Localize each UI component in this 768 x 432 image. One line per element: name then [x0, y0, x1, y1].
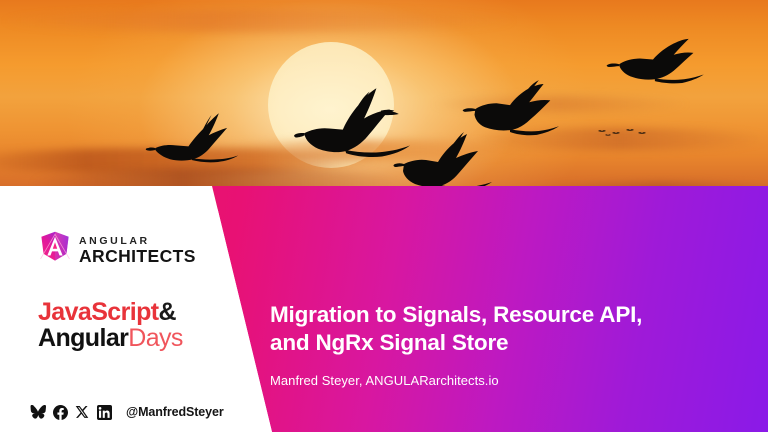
social-handle: @ManfredSteyer — [126, 405, 224, 419]
presentation-slide: ANGULAR ARCHITECTS JavaScript& AngularDa… — [0, 0, 768, 432]
title-block: Migration to Signals, Resource API, and … — [270, 301, 730, 388]
lower-band: ANGULAR ARCHITECTS JavaScript& AngularDa… — [0, 186, 768, 432]
aa-line-top: ANGULAR — [79, 236, 196, 247]
angular-architects-wordmark: ANGULAR ARCHITECTS — [79, 234, 196, 266]
social-links-row: @ManfredSteyer — [30, 404, 224, 420]
linkedin-icon[interactable] — [96, 404, 112, 420]
word-angular: Angular — [38, 324, 128, 352]
x-icon[interactable] — [74, 404, 90, 420]
slide-title: Migration to Signals, Resource API, and … — [270, 301, 730, 358]
facebook-icon[interactable] — [52, 404, 68, 420]
word-days: Days — [128, 324, 183, 352]
bluesky-icon[interactable] — [30, 404, 46, 420]
brand-block: ANGULAR ARCHITECTS — [38, 230, 238, 269]
js-angular-days-logo: JavaScript& AngularDays — [38, 299, 183, 351]
word-ampersand: & — [158, 298, 175, 326]
angular-shield-icon — [38, 230, 72, 269]
angular-architects-logo: ANGULAR ARCHITECTS — [38, 230, 238, 269]
jsad-line-2: AngularDays — [38, 325, 183, 351]
jsad-line-1: JavaScript& — [38, 299, 183, 325]
slide-subtitle: Manfred Steyer, ANGULARarchitects.io — [270, 358, 730, 388]
word-javascript: JavaScript — [38, 298, 158, 326]
aa-line-bottom: ARCHITECTS — [79, 248, 196, 266]
